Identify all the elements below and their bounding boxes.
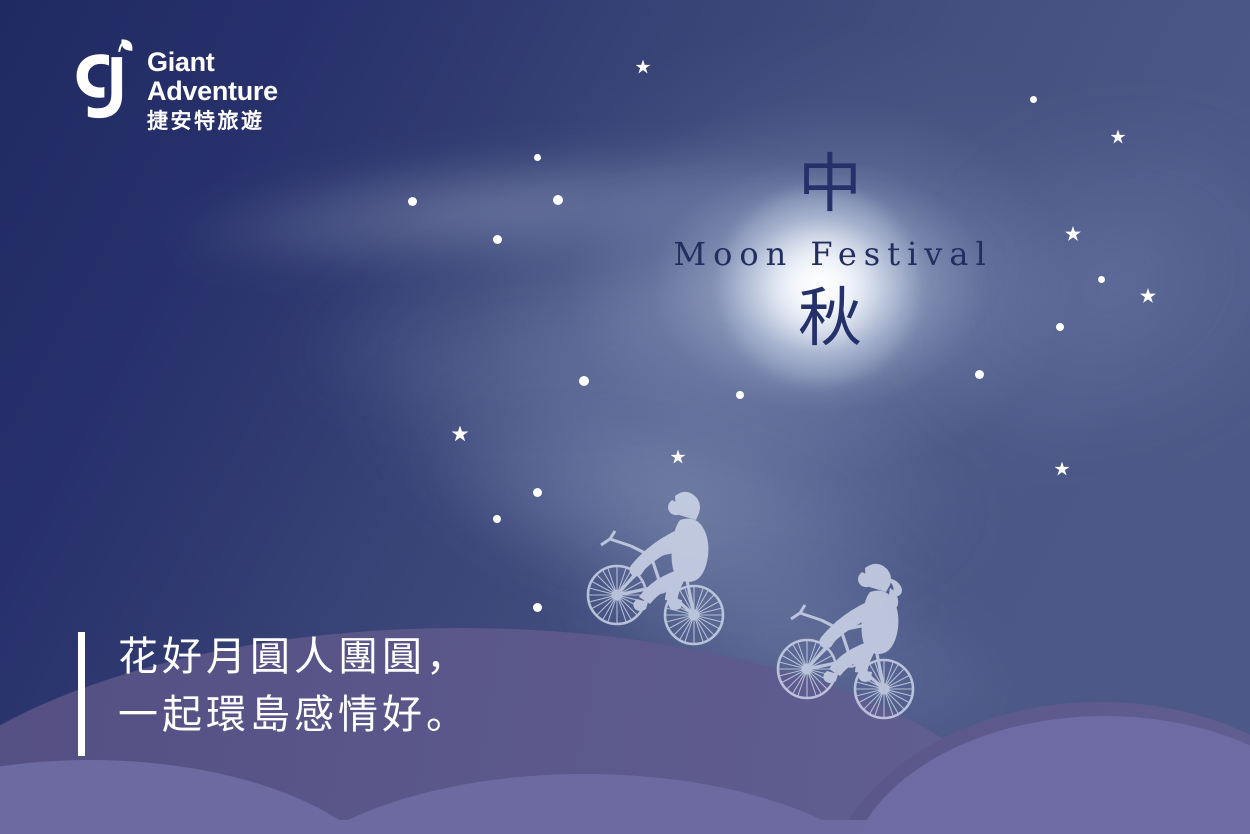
moon-festival-poster: Giant Adventure 捷安特旅遊 中 Moon Festival 秋 … [0, 0, 1250, 834]
festival-english-title: Moon Festival [626, 234, 1040, 274]
hill-back-right [820, 702, 1250, 834]
festival-char-zhong: 中 [620, 150, 1040, 220]
brand-logo[interactable]: Giant Adventure 捷安特旅遊 [72, 36, 278, 134]
tagline-accent-bar [78, 632, 85, 756]
logo-line-adventure: Adventure [147, 77, 278, 106]
star-dot-icon [1056, 323, 1064, 331]
giant-g-leaf-logo-icon [72, 36, 134, 120]
logo-line-chinese: 捷安特旅遊 [147, 109, 278, 134]
nebula-wisp [402, 355, 958, 706]
hill-front-base [0, 820, 1250, 834]
star-dot-icon [493, 515, 501, 523]
tagline-line-2: 一起環島感情好。 [118, 686, 470, 744]
star-dot-icon [579, 376, 589, 386]
cyclist-female-rear [775, 552, 923, 720]
hill-front-right [845, 716, 1250, 834]
tagline-block: 花好月圓人團圓， 一起環島感情好。 [78, 628, 470, 756]
tagline-text: 花好月圓人團圓， 一起環島感情好。 [118, 628, 470, 744]
star-dot-icon [736, 391, 744, 399]
star-dot-icon [533, 488, 542, 497]
star-dot-icon [1030, 96, 1037, 103]
star-icon [1065, 226, 1081, 242]
logo-line-giant: Giant [147, 48, 278, 77]
logo-wordmark: Giant Adventure 捷安特旅遊 [147, 36, 278, 134]
star-icon [671, 450, 686, 465]
star-icon [1140, 288, 1156, 304]
star-icon [1111, 130, 1126, 145]
cyclist-male-front [585, 478, 733, 646]
star-icon [1055, 462, 1070, 477]
hill-front-left [0, 760, 400, 834]
star-icon [636, 60, 651, 75]
festival-char-qiu: 秋 [620, 284, 1040, 354]
nebula-wisp [546, 507, 1033, 783]
star-icon [452, 426, 469, 443]
star-dot-icon [533, 603, 542, 612]
hill-front-mid [265, 774, 905, 834]
star-dot-icon [408, 197, 417, 206]
star-dot-icon [1098, 276, 1105, 283]
star-dot-icon [975, 370, 984, 379]
tagline-line-1: 花好月圓人團圓， [118, 628, 470, 686]
festival-headline: 中 Moon Festival 秋 [620, 150, 1040, 354]
star-dot-icon [493, 235, 502, 244]
star-dot-icon [534, 154, 541, 161]
star-dot-icon [553, 195, 563, 205]
